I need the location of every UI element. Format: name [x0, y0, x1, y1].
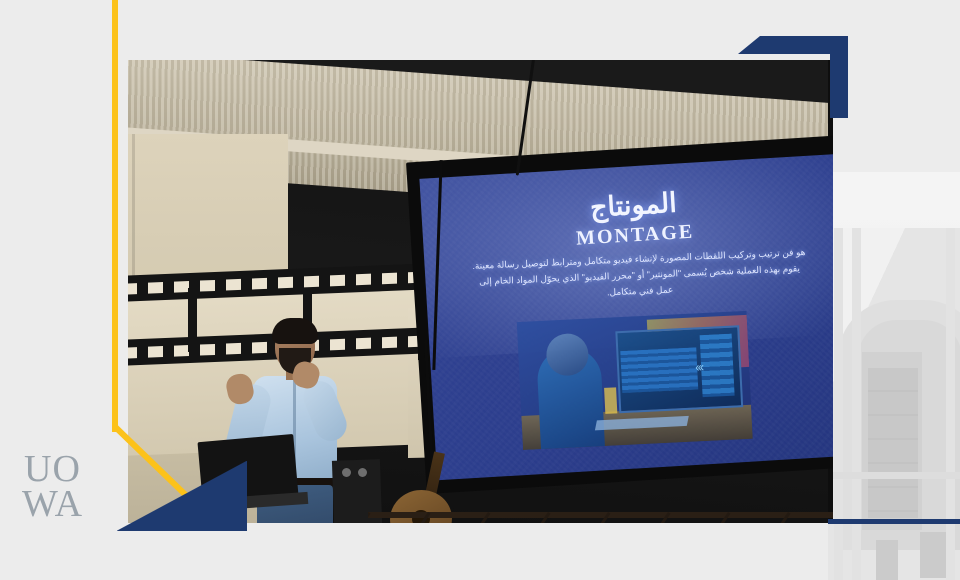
film-frame-divider: [188, 288, 197, 352]
navy-corner-bracket-notch: [738, 36, 760, 54]
film-perforation: [200, 279, 215, 291]
amplifier-knob: [358, 468, 367, 477]
watermark-band: [828, 472, 960, 479]
presenter-hair: [272, 318, 318, 344]
film-perforation: [304, 275, 319, 287]
amplifier-knob: [342, 468, 351, 477]
yellow-accent-frame-vertical: [112, 0, 118, 432]
film-perforation: [200, 343, 215, 355]
film-perforation: [278, 276, 293, 288]
watermark-window: [876, 540, 898, 580]
slide-illustration-sidebar-ui: [700, 334, 735, 397]
film-perforation: [356, 273, 371, 285]
banner-canvas: المونتاج MONTAGE هو فن ترتيب وتركيب اللق…: [0, 0, 960, 580]
lecture-photograph: المونتاج MONTAGE هو فن ترتيب وتركيب اللق…: [128, 60, 833, 523]
slide-illustration-video-editor: ‹‹‹: [517, 311, 753, 450]
watermark-column: [852, 228, 861, 580]
uowa-logo: UO WA: [24, 452, 110, 522]
film-perforation: [382, 272, 397, 284]
film-perforation: [226, 278, 241, 290]
uowa-logo-line-1: UO: [24, 452, 110, 487]
projector-screen: المونتاج MONTAGE هو فن ترتيب وتركيب اللق…: [419, 154, 833, 481]
film-perforation: [382, 336, 397, 348]
film-perforation: [128, 283, 137, 295]
film-perforation: [330, 274, 345, 286]
film-perforation: [148, 282, 163, 294]
film-perforation: [148, 346, 163, 358]
film-perforation: [174, 280, 189, 292]
watermark-column: [946, 228, 955, 580]
slide-illustration-arrows: ‹‹‹: [695, 359, 703, 374]
watermark-column: [834, 228, 843, 580]
film-perforation: [128, 347, 137, 359]
uowa-logo-line-2: WA: [22, 487, 110, 522]
railing-lattice: [368, 512, 833, 523]
slide-illustration-timeline-ui: [620, 347, 698, 393]
navy-corner-bracket-vertical: [830, 36, 848, 118]
watermark-window: [920, 532, 946, 578]
film-perforation: [356, 337, 371, 349]
film-perforation: [252, 277, 267, 289]
watermark-glass-facade: [868, 368, 918, 518]
navy-divider-rule: [828, 519, 960, 524]
navy-corner-triangle: [117, 461, 247, 531]
film-perforation: [174, 344, 189, 356]
slide-illustration-lamp: [604, 387, 617, 414]
